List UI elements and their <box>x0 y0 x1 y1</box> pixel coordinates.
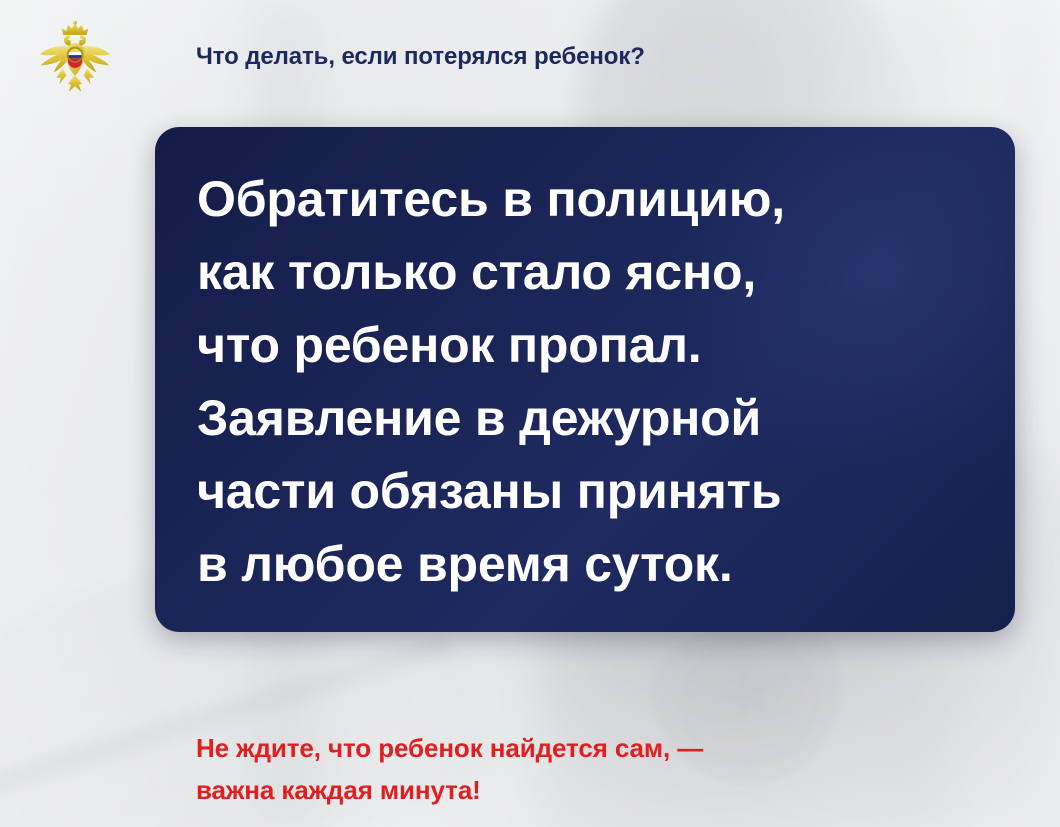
mvd-emblem-icon <box>36 20 114 98</box>
warning-line-1: Не ждите, что ребенок найдется сам, — <box>196 727 703 769</box>
warning-text: Не ждите, что ребенок найдется сам, — ва… <box>196 727 703 811</box>
card-line-2: как только стало ясно, <box>197 236 973 309</box>
card-line-5: части обязаны принять <box>197 455 973 528</box>
poster-header: Что делать, если потерялся ребенок? <box>0 0 1060 120</box>
poster-root: РОССИЯ <box>0 0 1060 827</box>
page-title: Что делать, если потерялся ребенок? <box>196 43 645 71</box>
warning-line-2: важна каждая минута! <box>196 769 703 811</box>
card-line-1: Обратитесь в полицию, <box>197 163 973 236</box>
card-line-6: в любое время суток. <box>197 528 973 601</box>
message-card: Обратитесь в полицию, как только стало я… <box>155 127 1015 632</box>
message-card-text: Обратитесь в полицию, как только стало я… <box>197 163 973 601</box>
card-line-3: что ребенок пропал. <box>197 309 973 382</box>
card-line-4: Заявление в дежурной <box>197 382 973 455</box>
